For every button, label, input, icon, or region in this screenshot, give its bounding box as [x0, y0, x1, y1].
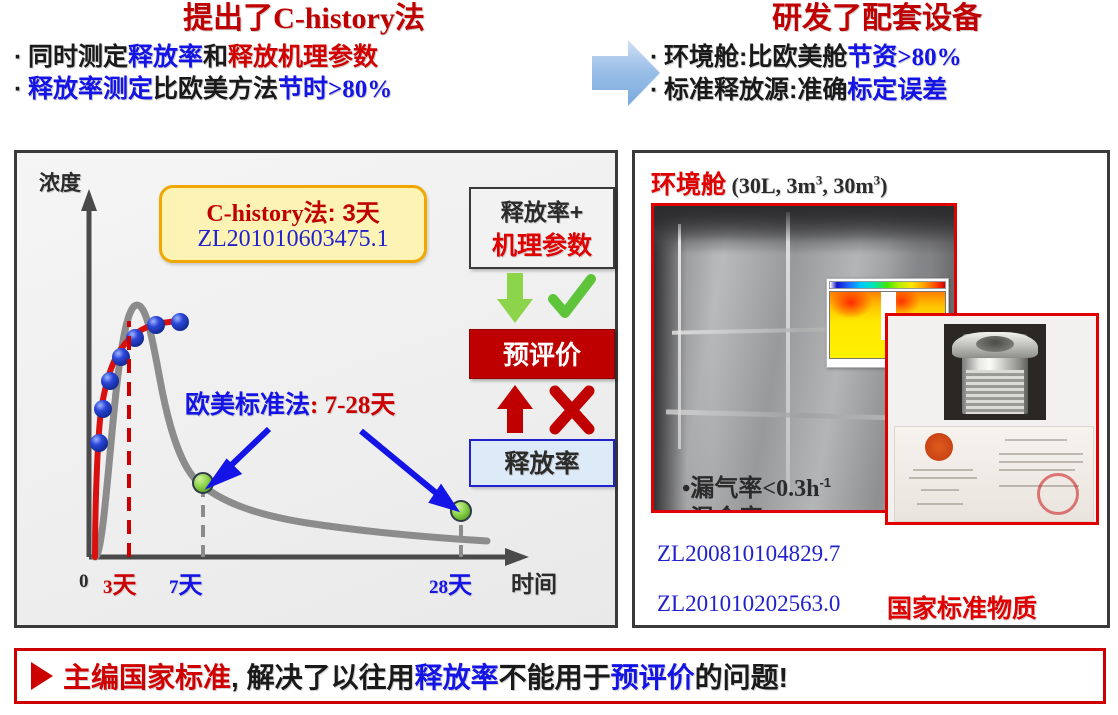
c-history-callout: C-history法: 3天 ZL201010603475.1 — [159, 185, 427, 263]
banner-seg: 主编国家标准 — [63, 662, 231, 693]
spec-1-text: •混合度>85% — [682, 506, 824, 513]
chamber-detail-pre: (30L, 3m — [726, 173, 816, 198]
patent-number-1: ZL200810104829.7 — [657, 541, 840, 567]
chamber-detail-mid: , 30m — [822, 173, 873, 198]
x-tick-7day: 7天 — [169, 565, 203, 600]
patent-number-2: ZL201010202563.0 — [657, 591, 840, 617]
spec-0-sup: -1 — [819, 475, 831, 490]
header-right-bullet-1: ·标准释放源:准确标定误差 — [636, 74, 1118, 106]
bullet-seg: >80% — [897, 44, 961, 71]
chamber-spec-1: •混合度>85% — [682, 504, 831, 513]
check-mark-icon — [553, 279, 591, 313]
callout-line-1: C-history法: 3天 — [162, 193, 424, 228]
chamber-title-main: 环境舱 — [651, 171, 726, 199]
header-left-title-part-2: 法 — [395, 2, 425, 35]
bullet-seg: 比欧美方法 — [153, 75, 278, 103]
chamber-photo-shadow — [654, 206, 954, 242]
cert-line — [913, 469, 973, 471]
euro-standard-curve — [95, 305, 487, 557]
callout-patent: ZL201010603475.1 — [162, 226, 424, 253]
header-left-bullets: ·同时测定释放率和释放机理参数 ·释放率测定比欧美方法节时>80% — [0, 41, 608, 106]
source-opening — [976, 336, 1014, 352]
euro-standard-annotation: 欧美标准法: 7-28天 — [185, 385, 395, 421]
euro-sep: : — [310, 392, 325, 419]
x-tick-28-num: 28 — [429, 577, 448, 598]
annotation-arrows — [213, 429, 453, 507]
cert-line — [999, 469, 1075, 471]
cert-line — [909, 477, 977, 479]
bullet-seg: 同时测定 — [28, 43, 128, 71]
x-tick-7-num: 7 — [169, 577, 179, 598]
chamber-detail-post: ) — [880, 173, 887, 198]
cert-line — [917, 503, 963, 505]
box-pre-evaluation: 预评价 — [469, 329, 615, 379]
certificate-stamp-icon — [1037, 473, 1079, 515]
header-left: 提出了C-history法 ·同时测定释放率和释放机理参数 ·释放率测定比欧美方… — [0, 2, 608, 106]
emission-source-photo — [885, 313, 1099, 525]
source-device-photo — [944, 324, 1046, 420]
x-tick-28day: 28天 — [429, 565, 472, 600]
equipment-panel: 环境舱 (30L, 3m3, 30m3) •漏气率<0.3h-1 •混合度>85… — [632, 150, 1110, 628]
box-release-rate: 释放率 — [469, 439, 615, 487]
banner-text: 主编国家标准, 解决了以往用释放率不能用于预评价的问题! — [63, 656, 788, 696]
contour-colorbar — [829, 281, 946, 289]
bullet-seg: 释放机理参数 — [228, 43, 378, 71]
header-right-bullet-0: ·环境舱:比欧美舱节资>80% — [636, 41, 1118, 74]
box-mech-line-1: 释放率+ — [471, 193, 613, 227]
bullet-dot-icon: · — [650, 41, 664, 73]
bullet-seg: 标定误差 — [847, 76, 947, 104]
euro-label: 欧美标准法 — [185, 391, 310, 419]
bullet-seg: >80% — [328, 76, 392, 103]
down-arrow-green-icon — [497, 273, 533, 323]
header-left-bullet-0: ·同时测定释放率和释放机理参数 — [0, 41, 608, 73]
triangle-bullet-icon — [31, 662, 53, 690]
chamber-specs: •漏气率<0.3h-1 •混合度>85% — [682, 474, 831, 513]
chamber-title: 环境舱 (30L, 3m3, 30m3) — [651, 165, 888, 201]
bullet-seg: 和 — [203, 43, 228, 71]
bullet-dot-icon: · — [14, 73, 28, 105]
flow-icons-top — [469, 273, 615, 325]
x-tick-7-unit: 天 — [179, 572, 203, 599]
banner-seg: , 解决了以往用 — [231, 662, 415, 693]
bullet-seg: 环境舱:比欧美舱 — [664, 43, 847, 71]
header-left-title-part-1: C-history — [273, 2, 395, 35]
chamber-spec-0: •漏气率<0.3h-1 — [682, 474, 831, 504]
spec-0-text: •漏气率<0.3h — [682, 476, 819, 502]
box-release-rate-plus-mechanism: 释放率+ 机理参数 — [469, 187, 615, 269]
chart-panel: 浓度 — [14, 150, 618, 628]
header-left-title-part-0: 提出了 — [183, 2, 273, 35]
source-threads — [966, 370, 1024, 414]
bottom-banner: 主编国家标准, 解决了以往用释放率不能用于预评价的问题! — [14, 648, 1106, 704]
x-tick-3day: 3天 — [103, 565, 137, 600]
callout-suffix: 法: 3天 — [304, 200, 380, 227]
flow-icons-bottom — [469, 385, 615, 435]
bullet-dot-icon: · — [650, 74, 664, 106]
banner-seg: 预评价 — [611, 662, 695, 693]
header-right-title: 研发了配套设备 — [636, 2, 1118, 37]
cross-mark-icon — [555, 391, 589, 429]
x-axis-label: 时间 — [511, 565, 557, 599]
box-pre-label: 预评价 — [503, 340, 581, 370]
cert-line — [921, 489, 959, 491]
banner-seg: 释放率 — [415, 662, 499, 693]
header-right-bullets: ·环境舱:比欧美舱节资>80% ·标准释放源:准确标定误差 — [636, 41, 1118, 106]
cert-line — [999, 461, 1083, 463]
banner-seg: 不能用于 — [499, 662, 611, 693]
cert-line — [1005, 439, 1067, 441]
slide-root: 提出了C-history法 ·同时测定释放率和释放机理参数 ·释放率测定比欧美方… — [0, 0, 1118, 715]
chamber-title-detail: (30L, 3m3, 30m3) — [726, 173, 887, 198]
national-standard-label: 国家标准物质 — [887, 589, 1037, 625]
box-mech-line-2: 机理参数 — [471, 226, 613, 262]
certificate-emblem-icon — [925, 433, 953, 461]
box-rate-label: 释放率 — [504, 450, 579, 478]
header-left-title: 提出了C-history法 — [0, 2, 608, 37]
bullet-seg: 节资 — [847, 43, 897, 71]
euro-value: 7-28天 — [325, 392, 396, 419]
bullet-seg: 释放率 — [128, 43, 203, 71]
up-arrow-red-icon — [497, 385, 533, 433]
x-tick-28-unit: 天 — [448, 572, 472, 599]
x-tick-3-num: 3 — [103, 577, 113, 598]
bullet-seg: 标准释放源:准确 — [664, 76, 847, 104]
x-tick-3-unit: 天 — [113, 572, 137, 599]
x-tick-0: 0 — [79, 571, 89, 593]
callout-method: C-history — [206, 201, 303, 227]
certificate-photo — [894, 426, 1094, 522]
banner-seg: 的问题! — [695, 662, 788, 693]
header-left-bullet-1: ·释放率测定比欧美方法节时>80% — [0, 73, 608, 106]
header-right: 研发了配套设备 ·环境舱:比欧美舱节资>80% ·标准释放源:准确标定误差 — [636, 2, 1118, 106]
cert-line — [999, 453, 1083, 455]
bullet-seg: 释放率测定 — [28, 75, 153, 103]
bullet-seg: 节时 — [278, 75, 328, 103]
bullet-dot-icon: · — [14, 41, 28, 73]
